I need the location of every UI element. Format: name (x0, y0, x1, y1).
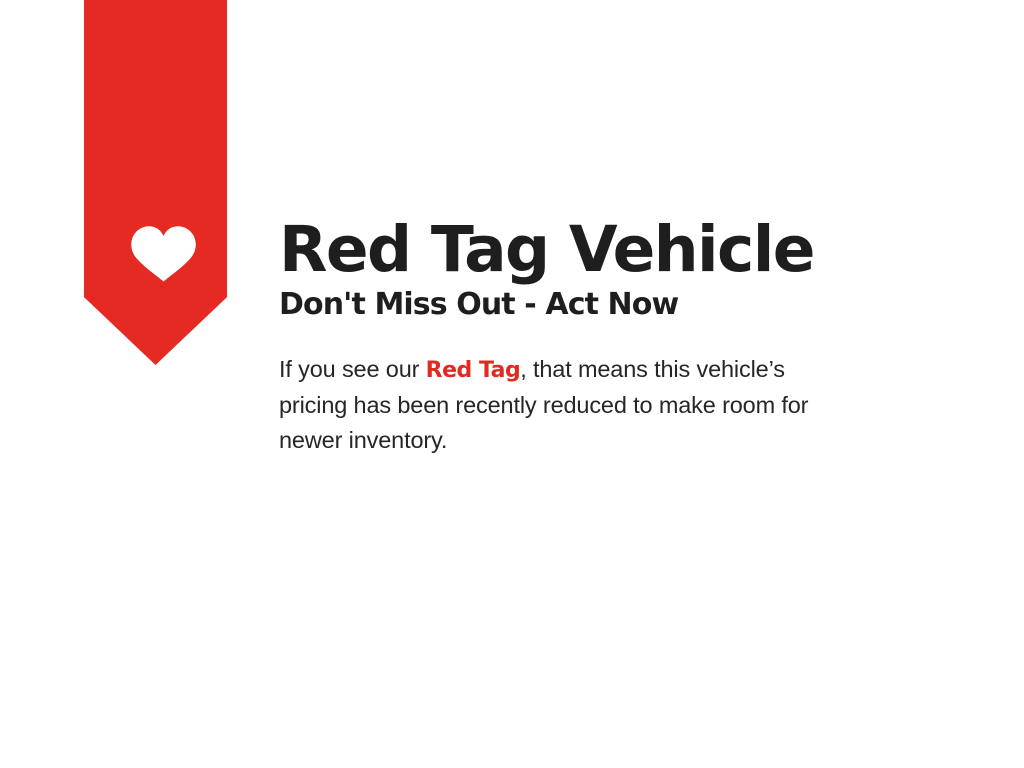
page-subtitle: Don't Miss Out - Act Now (279, 288, 899, 321)
heart-icon (130, 224, 197, 282)
text-column: Red Tag Vehicle Don't Miss Out - Act Now… (279, 218, 899, 458)
paragraph-lead: If you see our (279, 356, 426, 382)
red-tag-highlight: Red Tag (426, 358, 521, 383)
red-tag-ribbon (84, 0, 227, 365)
body-paragraph: If you see our Red Tag, that means this … (279, 352, 824, 458)
page-title: Red Tag Vehicle (279, 218, 899, 282)
slide-canvas: Red Tag Vehicle Don't Miss Out - Act Now… (0, 0, 1024, 768)
